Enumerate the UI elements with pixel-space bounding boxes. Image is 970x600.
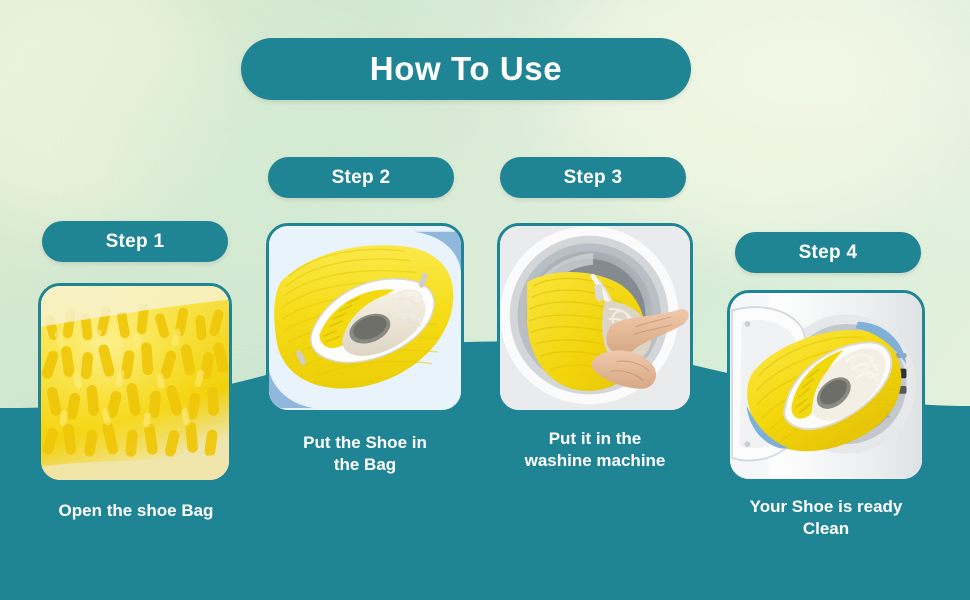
step-badge-label-1: Step 1 [106,231,165,253]
step-caption-line2-2: the Bag [334,455,396,474]
step-badge-4: Step 4 [735,232,921,273]
step-badge-3: Step 3 [500,157,686,198]
page-title: How To Use [370,50,562,88]
step-badge-label-3: Step 3 [564,167,623,189]
step-caption-line1-4: Your Shoe is ready [750,497,903,516]
step-image-4 [727,290,925,482]
step-badge-2: Step 2 [268,157,454,198]
step-caption-3: Put it in the washine machine [492,428,698,472]
step-caption-4: Your Shoe is ready Clean [712,496,940,540]
step-caption-line2-3: washine machine [525,451,666,470]
step-badge-label-2: Step 2 [332,167,391,189]
step-caption-line1-3: Put it in the [549,429,642,448]
step-image-1 [38,283,232,483]
clean-shoe-in-bag-at-washer-photo [730,293,922,479]
yellow-chenille-bag-interior-photo [41,286,229,480]
step-image-3 [497,223,693,413]
step-image-2 [266,223,464,413]
step-caption-line2-4: Clean [803,519,849,538]
background-glow-blob [0,0,220,220]
step-badge-1: Step 1 [42,221,228,262]
step-caption-2: Put the Shoe in the Bag [262,432,468,476]
step-caption-text-1: Open the shoe Bag [59,501,214,520]
shoe-inside-yellow-bag-photo [269,226,461,410]
step-caption-1: Open the shoe Bag [18,500,254,522]
background-glow-blob [560,0,940,240]
step-caption-line1-2: Put the Shoe in [303,433,427,452]
how-to-use-poster: How To Use Step 1 [0,0,970,600]
step-badge-label-4: Step 4 [799,242,858,264]
hands-loading-bag-into-washer-photo [500,226,690,410]
page-title-banner: How To Use [241,38,691,100]
